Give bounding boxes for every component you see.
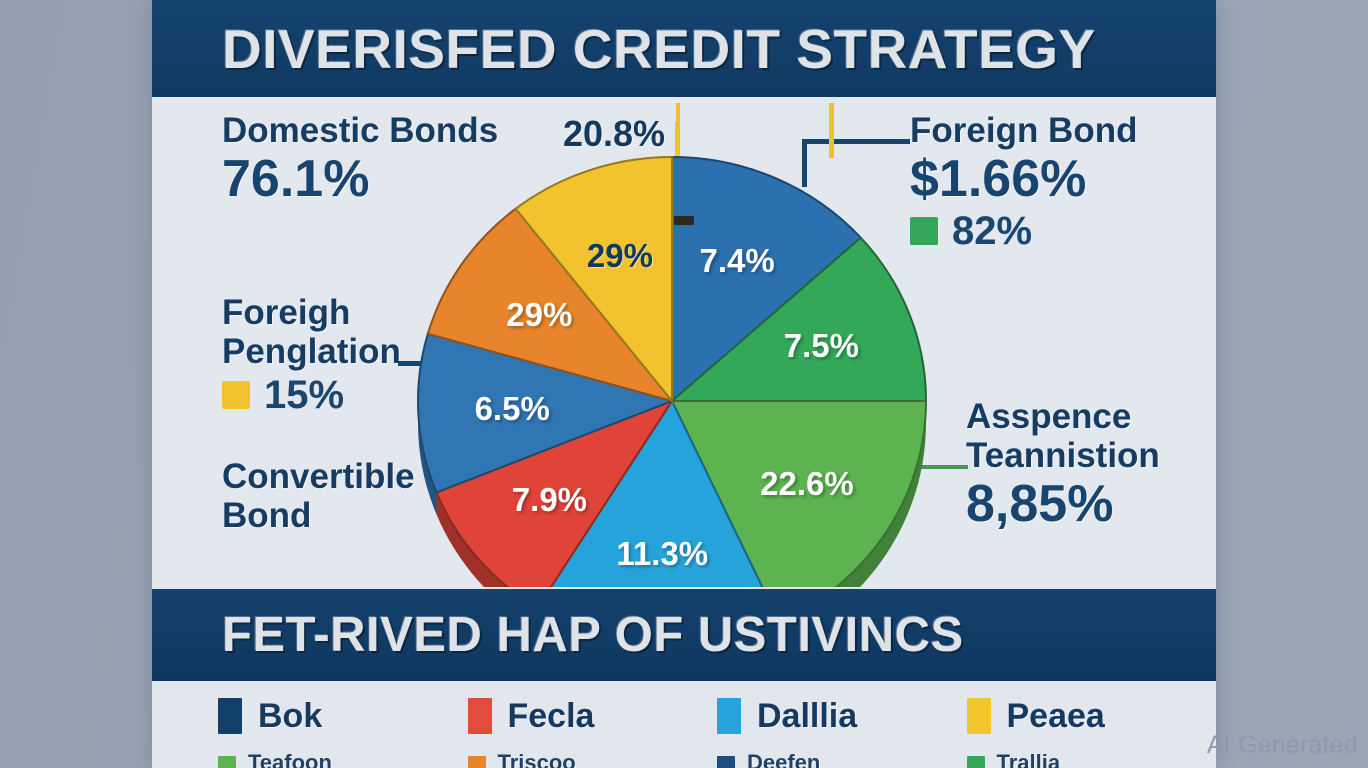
header-banner: DIVERISFED CREDIT STRATEGY	[152, 0, 1216, 97]
pie-slice-label: 22.6%	[760, 465, 854, 503]
legend-item-label: Deefen	[747, 750, 820, 768]
screenshot-root: DIVERISFED CREDIT STRATEGY Domestic Bond…	[0, 0, 1368, 768]
legend-item-label: Triscoo	[498, 750, 576, 768]
pie-tick-marker	[674, 216, 694, 225]
legend-item-label: Dalllia	[757, 697, 857, 736]
legend-swatch-icon	[967, 698, 991, 734]
legend-item-label: Bok	[258, 697, 322, 736]
callout-convertible-title-2: Bond	[222, 496, 415, 535]
legend-row-secondary: TeafoonTriscooDeefenTrallia	[152, 751, 1216, 768]
callout-penglation-sub: 15%	[222, 373, 401, 417]
legend-item[interactable]: Teafoon	[218, 750, 468, 768]
callout-asspence-value: 8,85%	[966, 477, 1160, 532]
legend-item-label: Fecla	[508, 697, 595, 736]
callout-foreign-bond-sub: 82%	[910, 209, 1137, 253]
legend-item[interactable]: Trallia	[967, 750, 1217, 768]
callout-foreign-penglation: Foreigh Penglation 15%	[222, 293, 401, 417]
pie-slice-label: 6.5%	[475, 390, 550, 428]
footer-title: FET-RIVED HAP OF USTIVINCS	[222, 607, 964, 663]
legend-item-label: Teafoon	[248, 750, 332, 768]
legend-swatch-icon	[717, 698, 741, 734]
pie-slice-label: 11.3%	[616, 535, 708, 573]
legend-item-label: Trallia	[997, 750, 1061, 768]
callout-penglation-title-2: Penglation	[222, 332, 401, 371]
callout-penglation-value: 15%	[264, 373, 344, 417]
pie-slice-label: 7.4%	[699, 242, 774, 280]
infographic-card: DIVERISFED CREDIT STRATEGY Domestic Bond…	[152, 0, 1216, 768]
callout-foreign-bond-pct: 82%	[952, 209, 1032, 253]
callout-foreign-bond-title: Foreign Bond	[910, 111, 1137, 150]
callout-foreign-bond-value: $1.66%	[910, 152, 1137, 207]
yellow-swatch-icon	[222, 381, 250, 409]
footer-banner: FET-RIVED HAP OF USTIVINCS	[152, 589, 1216, 681]
legend-item-label: Peaea	[1007, 697, 1105, 736]
ai-generated-watermark: AI Generated	[1207, 731, 1358, 760]
legend-swatch-icon	[468, 698, 492, 734]
callout-convertible-bond: Convertible Bond	[222, 457, 415, 535]
callout-foreign-bond: Foreign Bond $1.66% 82%	[910, 111, 1137, 253]
legend-item[interactable]: Peaea	[967, 697, 1217, 736]
legend-item[interactable]: Bok	[218, 697, 468, 736]
legend-swatch-icon	[218, 756, 236, 768]
legend-swatch-icon	[468, 756, 486, 768]
legend-row-primary: BokFeclaDallliaPeaea	[152, 681, 1216, 751]
pie-slice-label: 29%	[587, 237, 653, 275]
callout-penglation-title-1: Foreigh	[222, 293, 401, 332]
callout-asspence: Asspence Teannistion 8,85%	[966, 397, 1160, 532]
legend-item[interactable]: Dalllia	[717, 697, 967, 736]
legend-swatch-icon	[967, 756, 985, 768]
legend-item[interactable]: Fecla	[468, 697, 718, 736]
legend-swatch-icon	[218, 698, 242, 734]
callout-asspence-title-1: Asspence	[966, 397, 1160, 436]
callout-asspence-title-2: Teannistion	[966, 436, 1160, 475]
pie-slice-label: 7.5%	[784, 327, 859, 365]
pie-chart: 7.4%7.5%22.6%11.3%7.9%6.5%29%29%	[416, 117, 936, 587]
legend: BokFeclaDallliaPeaea TeafoonTriscooDeefe…	[152, 681, 1216, 768]
pie-slice-label: 29%	[506, 296, 572, 334]
legend-swatch-icon	[717, 756, 735, 768]
legend-item[interactable]: Triscoo	[468, 750, 718, 768]
pie-slice-label: 7.9%	[512, 481, 587, 519]
chart-area: Domestic Bonds 76.1% Foreigh Penglation …	[152, 97, 1216, 589]
legend-item[interactable]: Deefen	[717, 750, 967, 768]
page-title: DIVERISFED CREDIT STRATEGY	[222, 17, 1096, 81]
callout-convertible-title-1: Convertible	[222, 457, 415, 496]
